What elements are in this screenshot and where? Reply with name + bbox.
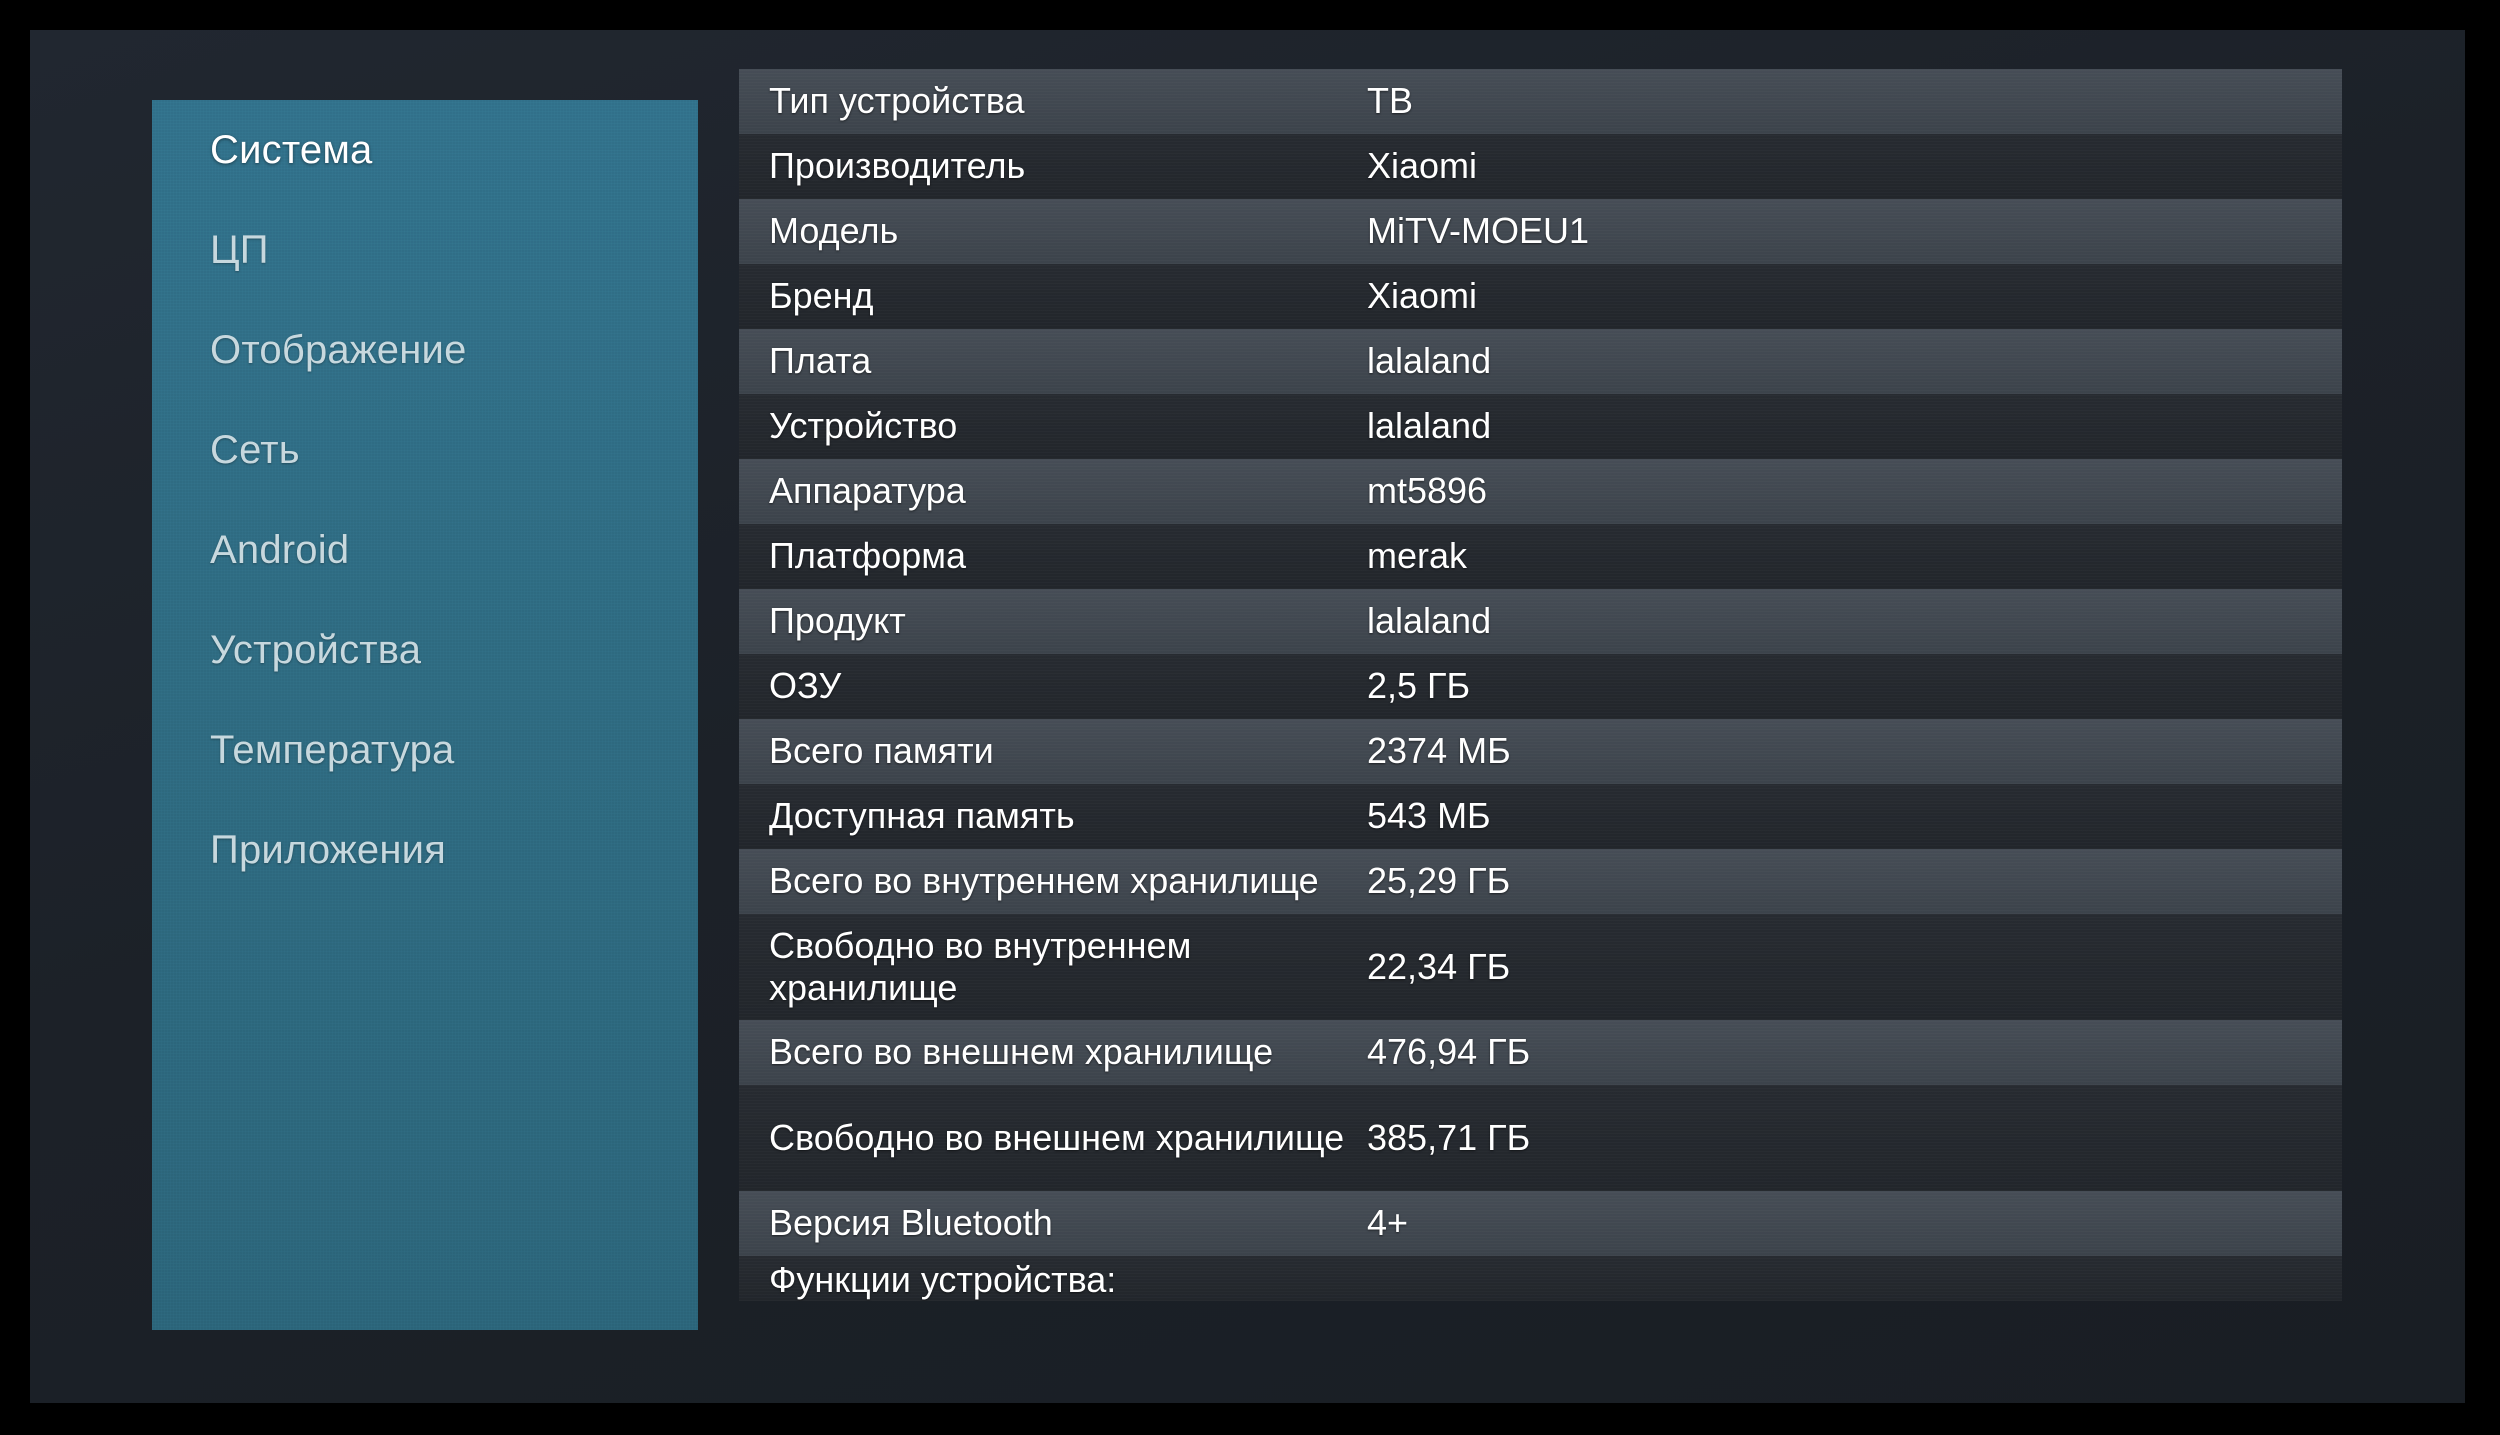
table-row[interactable]: МодельMiTV-MOEU1 — [739, 199, 2342, 264]
table-row[interactable]: ОЗУ2,5 ГБ — [739, 654, 2342, 719]
sidebar-item-2[interactable]: ЦП — [210, 218, 680, 282]
table-row[interactable]: Доступная память543 МБ — [739, 784, 2342, 849]
sidebar-item-label: Сеть — [210, 428, 300, 473]
table-row-value: lalaland — [1367, 600, 2342, 642]
table-row-value: 543 МБ — [1367, 795, 2342, 837]
table-row[interactable]: Платаlalaland — [739, 329, 2342, 394]
table-row-value: MiTV-MOEU1 — [1367, 210, 2342, 252]
table-row[interactable]: Продуктlalaland — [739, 589, 2342, 654]
table-row-label: Всего во внутреннем хранилище — [769, 860, 1367, 902]
table-row-label: Функции устройства: — [769, 1259, 1367, 1301]
tv-screen: СистемаЦПОтображениеСетьAndroidУстройств… — [0, 0, 2500, 1435]
system-info-table[interactable]: Тип устройстваТВПроизводительXiaomiМодел… — [739, 69, 2342, 1330]
table-row[interactable]: Функции устройства: — [739, 1256, 2342, 1301]
sidebar-item-1[interactable]: Система — [210, 118, 680, 182]
table-row-value: 2374 МБ — [1367, 730, 2342, 772]
table-row[interactable]: БрендXiaomi — [739, 264, 2342, 329]
sidebar-item-label: Отображение — [210, 328, 467, 373]
table-row-label: Модель — [769, 210, 1367, 252]
table-row-value: lalaland — [1367, 340, 2342, 382]
table-row-label: Версия Bluetooth — [769, 1202, 1367, 1244]
sidebar-item-3[interactable]: Отображение — [210, 318, 680, 382]
sidebar-item-label: Система — [210, 128, 373, 173]
table-row[interactable]: Всего во внешнем хранилище476,94 ГБ — [739, 1020, 2342, 1085]
table-row[interactable]: Устройствоlalaland — [739, 394, 2342, 459]
table-row[interactable]: Всего во внутреннем хранилище25,29 ГБ — [739, 849, 2342, 914]
table-row-label: Платформа — [769, 535, 1367, 577]
table-row[interactable]: Свободно во внутреннем хранилище22,34 ГБ — [739, 914, 2342, 1020]
table-row-label: Бренд — [769, 275, 1367, 317]
table-row-label: Плата — [769, 340, 1367, 382]
table-row-value: 25,29 ГБ — [1367, 860, 2342, 902]
table-row[interactable]: Всего памяти2374 МБ — [739, 719, 2342, 784]
table-row[interactable]: Тип устройстваТВ — [739, 69, 2342, 134]
table-row-label: Аппаратура — [769, 470, 1367, 512]
table-row[interactable]: Свободно во внешнем хранилище385,71 ГБ — [739, 1085, 2342, 1191]
table-row[interactable]: Версия Bluetooth4+ — [739, 1191, 2342, 1256]
sidebar-navigation[interactable]: СистемаЦПОтображениеСетьAndroidУстройств… — [152, 100, 698, 1330]
table-row-label: Свободно во внешнем хранилище — [769, 1117, 1367, 1159]
table-row-value: 476,94 ГБ — [1367, 1031, 2342, 1073]
sidebar-item-4[interactable]: Сеть — [210, 418, 680, 482]
table-row-value: Xiaomi — [1367, 275, 2342, 317]
table-row-value: 2,5 ГБ — [1367, 665, 2342, 707]
table-row-value: 22,34 ГБ — [1367, 946, 2342, 988]
sidebar-item-label: Android — [210, 528, 349, 573]
sidebar-item-7[interactable]: Температура — [210, 718, 680, 782]
table-row-label: ОЗУ — [769, 665, 1367, 707]
sidebar-item-5[interactable]: Android — [210, 518, 680, 582]
table-row-label: Доступная память — [769, 795, 1367, 837]
table-row-label: Всего во внешнем хранилище — [769, 1031, 1367, 1073]
table-row-label: Продукт — [769, 600, 1367, 642]
table-row-value: ТВ — [1367, 80, 2342, 122]
table-row-value: 385,71 ГБ — [1367, 1117, 2342, 1159]
table-row-value: lalaland — [1367, 405, 2342, 447]
table-row-value: merak — [1367, 535, 2342, 577]
table-row[interactable]: Аппаратураmt5896 — [739, 459, 2342, 524]
table-row-value: mt5896 — [1367, 470, 2342, 512]
table-row-label: Тип устройства — [769, 80, 1367, 122]
table-row-value: 4+ — [1367, 1202, 2342, 1244]
table-row-label: Устройство — [769, 405, 1367, 447]
sidebar-item-label: Температура — [210, 728, 454, 773]
sidebar-item-label: Устройства — [210, 628, 421, 673]
sidebar-item-8[interactable]: Приложения — [210, 818, 680, 882]
table-row[interactable]: Платформаmerak — [739, 524, 2342, 589]
sidebar-item-label: ЦП — [210, 228, 269, 273]
table-row-label: Производитель — [769, 145, 1367, 187]
sidebar-item-6[interactable]: Устройства — [210, 618, 680, 682]
sidebar-item-label: Приложения — [210, 828, 446, 873]
table-row[interactable]: ПроизводительXiaomi — [739, 134, 2342, 199]
device-info-app-window: СистемаЦПОтображениеСетьAndroidУстройств… — [30, 30, 2465, 1403]
table-row-value: Xiaomi — [1367, 145, 2342, 187]
table-row-label: Всего памяти — [769, 730, 1367, 772]
table-row-label: Свободно во внутреннем хранилище — [769, 925, 1367, 1010]
